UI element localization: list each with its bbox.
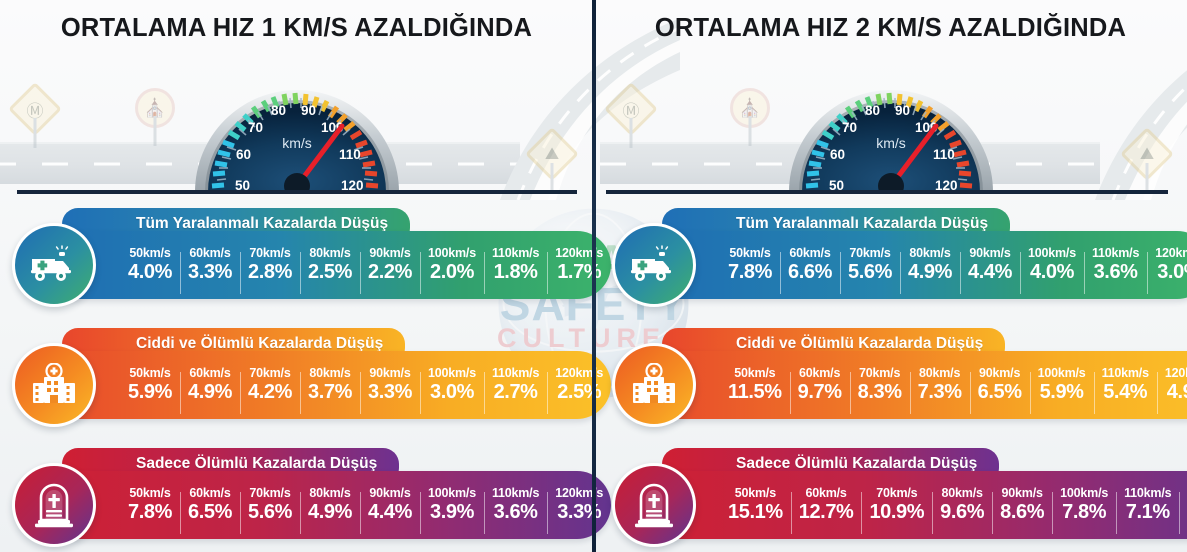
cell-speed: 70km/s	[248, 246, 292, 260]
cell-pct: 4.4%	[368, 500, 412, 524]
data-cell: 110km/s 3.6%	[484, 486, 547, 524]
cell-speed: 100km/s	[428, 246, 476, 260]
cell-pct: 7.8%	[1060, 500, 1108, 524]
cell-speed: 50km/s	[128, 246, 172, 260]
data-cell: 70km/s 5.6%	[240, 486, 300, 524]
cell-speed: 90km/s	[1000, 486, 1044, 500]
svg-text:90: 90	[895, 103, 910, 118]
panel-2-km-decrease: ORTALAMA HIZ 2 KM/S AZALDIĞINDA	[594, 0, 1187, 552]
cell-pct: 4.9%	[1165, 380, 1187, 404]
cell-pct: 9.6%	[940, 500, 984, 524]
page-title-right: ORTALAMA HIZ 2 KM/S AZALDIĞINDA	[594, 14, 1187, 43]
data-cell: 50km/s 11.5%	[720, 366, 790, 404]
cell-speed: 80km/s	[918, 366, 962, 380]
cell-pct: 2.0%	[428, 260, 476, 284]
cell-pct: 2.2%	[368, 260, 412, 284]
cell-speed: 110km/s	[1092, 246, 1139, 260]
gauge-tick-110: 110	[339, 147, 361, 162]
cell-pct: 15.1%	[728, 500, 783, 524]
cell-pct: 2.8%	[248, 260, 292, 284]
data-cell: 50km/s 4.0%	[120, 246, 180, 284]
data-cell: 60km/s 4.9%	[180, 366, 240, 404]
cell-pct: 3.6%	[492, 500, 539, 524]
gauge-unit-label: km/s	[282, 135, 312, 151]
cell-pct: 4.9%	[908, 260, 952, 284]
cell-speed: 70km/s	[248, 486, 292, 500]
data-cell: 100km/s 7.8%	[1052, 486, 1116, 524]
row-serious-fatal-right: Ciddi ve Ölümlü Kazalarda Düşüş 50km/s 1…	[594, 325, 1187, 445]
data-cell: 80km/s 7.3%	[910, 366, 970, 404]
cell-pct: 5.6%	[848, 260, 892, 284]
row-all-injury-right: Tüm Yaralanmalı Kazalarda Düşüş 50km/s 7…	[594, 205, 1187, 325]
cell-pct: 11.5%	[728, 380, 782, 404]
cell-speed: 80km/s	[908, 246, 952, 260]
data-cell: 70km/s 4.2%	[240, 366, 300, 404]
svg-text:70: 70	[842, 120, 857, 135]
data-cell: 50km/s 7.8%	[720, 246, 780, 284]
tombstone-icon	[12, 463, 96, 547]
data-cell: 80km/s 3.7%	[300, 366, 360, 404]
data-cell: 110km/s 3.6%	[1084, 246, 1147, 284]
cell-pct: 4.0%	[128, 260, 172, 284]
cell-pct: 6.6%	[788, 260, 832, 284]
cell-pct: 5.6%	[248, 500, 292, 524]
speedometer-gauge-left: 50 60 70 80 90 100 110 120 km/s	[193, 66, 401, 192]
cell-speed: 90km/s	[368, 246, 412, 260]
speedometer-gauge-right: 50 60 70 80 90 100 110 120 km/s	[787, 66, 995, 192]
cell-speed: 110km/s	[492, 486, 539, 500]
cell-pct: 4.9%	[188, 380, 232, 404]
header-rule-right	[606, 190, 1168, 194]
data-cell: 70km/s 8.3%	[850, 366, 910, 404]
data-cell: 80km/s 2.5%	[300, 246, 360, 284]
cell-pct: 6.5%	[188, 500, 232, 524]
cell-speed: 110km/s	[1124, 486, 1171, 500]
data-cell: 100km/s 3.0%	[420, 366, 484, 404]
cell-speed: 50km/s	[128, 366, 172, 380]
data-cell: 100km/s 5.9%	[1030, 366, 1094, 404]
cell-speed: 90km/s	[978, 366, 1022, 380]
cell-speed: 70km/s	[848, 246, 892, 260]
cell-speed: 120km/s	[1165, 366, 1187, 380]
data-cell: 120km/s 6.5%	[1179, 486, 1187, 524]
svg-text:110: 110	[933, 147, 955, 162]
cell-speed: 80km/s	[308, 366, 352, 380]
row-data-band: 50km/s 4.0% 60km/s 3.3% 70km/s 2.8% 80km…	[42, 231, 611, 299]
data-cell: 90km/s 3.3%	[360, 366, 420, 404]
infographic-root: Ⓜ ⛪ ⛰ Ⓜ ⛪	[0, 0, 1187, 552]
cell-speed: 50km/s	[728, 366, 782, 380]
ambulance-icon	[12, 223, 96, 307]
cell-pct: 10.9%	[869, 500, 924, 524]
cell-pct: 3.7%	[308, 380, 352, 404]
data-cell: 90km/s 4.4%	[960, 246, 1020, 284]
gauge-tick-70: 70	[248, 120, 263, 135]
row-data-band: 50km/s 11.5% 60km/s 9.7% 70km/s 8.3% 80k…	[642, 351, 1187, 419]
tombstone-icon	[612, 463, 696, 547]
cell-pct: 3.0%	[428, 380, 476, 404]
cell-pct: 6.5%	[978, 380, 1022, 404]
data-cell: 50km/s 5.9%	[120, 366, 180, 404]
gauge-tick-60: 60	[236, 147, 251, 162]
rows-right: Tüm Yaralanmalı Kazalarda Düşüş 50km/s 7…	[594, 205, 1187, 552]
data-cell: 120km/s 4.9%	[1157, 366, 1187, 404]
cell-pct: 7.8%	[128, 500, 172, 524]
cell-speed: 110km/s	[492, 366, 539, 380]
data-cell: 90km/s 8.6%	[992, 486, 1052, 524]
cell-pct: 8.3%	[858, 380, 902, 404]
cell-pct: 3.9%	[428, 500, 476, 524]
data-cell: 60km/s 9.7%	[790, 366, 850, 404]
data-cell: 90km/s 6.5%	[970, 366, 1030, 404]
cell-speed: 50km/s	[128, 486, 172, 500]
data-cell: 80km/s 4.9%	[300, 486, 360, 524]
cell-speed: 110km/s	[1102, 366, 1149, 380]
data-cell: 70km/s 10.9%	[861, 486, 932, 524]
data-cell: 60km/s 6.6%	[780, 246, 840, 284]
data-cell: 60km/s 3.3%	[180, 246, 240, 284]
cell-pct: 4.4%	[968, 260, 1012, 284]
page-title-left: ORTALAMA HIZ 1 KM/S AZALDIĞINDA	[0, 14, 593, 43]
data-cell: 60km/s 6.5%	[180, 486, 240, 524]
data-cell: 110km/s 2.7%	[484, 366, 547, 404]
data-cell: 50km/s 15.1%	[720, 486, 791, 524]
cell-pct: 2.7%	[492, 380, 539, 404]
cell-speed: 60km/s	[798, 366, 842, 380]
cell-pct: 4.0%	[1028, 260, 1076, 284]
rows-left: Tüm Yaralanmalı Kazalarda Düşüş 50km/s 4…	[0, 205, 593, 552]
cell-speed: 90km/s	[968, 246, 1012, 260]
row-data-band: 50km/s 15.1% 60km/s 12.7% 70km/s 10.9% 8…	[642, 471, 1187, 539]
cell-pct: 3.3%	[188, 260, 232, 284]
data-cell: 60km/s 12.7%	[791, 486, 862, 524]
cell-pct: 3.3%	[368, 380, 412, 404]
row-data-band: 50km/s 7.8% 60km/s 6.6% 70km/s 5.6% 80km…	[642, 231, 1187, 299]
cell-speed: 60km/s	[799, 486, 854, 500]
cell-speed: 90km/s	[368, 486, 412, 500]
row-all-injury-left: Tüm Yaralanmalı Kazalarda Düşüş 50km/s 4…	[0, 205, 593, 325]
cell-speed: 70km/s	[248, 366, 292, 380]
hospital-icon	[612, 343, 696, 427]
cell-pct: 5.4%	[1102, 380, 1149, 404]
cell-pct: 3.6%	[1092, 260, 1139, 284]
cell-pct: 4.2%	[248, 380, 292, 404]
cell-speed: 100km/s	[1038, 366, 1086, 380]
cell-speed: 80km/s	[308, 486, 352, 500]
cell-speed: 60km/s	[788, 246, 832, 260]
svg-text:km/s: km/s	[876, 135, 906, 151]
cell-speed: 110km/s	[492, 246, 539, 260]
cell-speed: 100km/s	[1060, 486, 1108, 500]
header-rule-left	[17, 190, 577, 194]
gauge-tick-90: 90	[301, 103, 316, 118]
cell-speed: 70km/s	[858, 366, 902, 380]
cell-speed: 120km/s	[1155, 246, 1187, 260]
data-cell: 120km/s 3.0%	[1147, 246, 1187, 284]
cell-pct: 8.6%	[1000, 500, 1044, 524]
panel-1-km-decrease: ORTALAMA HIZ 1 KM/S AZALDIĞINDA	[0, 0, 593, 552]
cell-pct: 7.8%	[728, 260, 772, 284]
cell-pct: 2.5%	[308, 260, 352, 284]
cell-pct: 1.8%	[492, 260, 539, 284]
row-data-band: 50km/s 5.9% 60km/s 4.9% 70km/s 4.2% 80km…	[42, 351, 611, 419]
ambulance-icon	[612, 223, 696, 307]
cell-pct: 5.9%	[1038, 380, 1086, 404]
cell-speed: 90km/s	[368, 366, 412, 380]
data-cell: 80km/s 9.6%	[932, 486, 992, 524]
cell-speed: 100km/s	[428, 366, 476, 380]
row-fatal-only-right: Sadece Ölümlü Kazalarda Düşüş 50km/s 15.…	[594, 445, 1187, 552]
data-cell: 100km/s 3.9%	[420, 486, 484, 524]
panel-divider	[592, 0, 596, 552]
data-cell: 110km/s 5.4%	[1094, 366, 1157, 404]
row-fatal-only-left: Sadece Ölümlü Kazalarda Düşüş 50km/s 7.8…	[0, 445, 593, 552]
gauge-tick-80: 80	[271, 103, 286, 118]
data-cell: 110km/s 7.1%	[1116, 486, 1179, 524]
row-serious-fatal-left: Ciddi ve Ölümlü Kazalarda Düşüş 50km/s 5…	[0, 325, 593, 445]
cell-pct: 12.7%	[799, 500, 854, 524]
cell-pct: 5.9%	[128, 380, 172, 404]
row-data-band: 50km/s 7.8% 60km/s 6.5% 70km/s 5.6% 80km…	[42, 471, 611, 539]
cell-pct: 7.3%	[918, 380, 962, 404]
svg-text:60: 60	[830, 147, 845, 162]
cell-speed: 60km/s	[188, 246, 232, 260]
data-cell: 80km/s 4.9%	[900, 246, 960, 284]
cell-speed: 80km/s	[308, 246, 352, 260]
cell-pct: 9.7%	[798, 380, 842, 404]
cell-speed: 100km/s	[428, 486, 476, 500]
data-cell: 90km/s 4.4%	[360, 486, 420, 524]
cell-speed: 100km/s	[1028, 246, 1076, 260]
data-cell: 100km/s 2.0%	[420, 246, 484, 284]
data-cell: 90km/s 2.2%	[360, 246, 420, 284]
cell-speed: 70km/s	[869, 486, 924, 500]
hospital-icon	[12, 343, 96, 427]
cell-pct: 4.9%	[308, 500, 352, 524]
cell-pct: 3.0%	[1155, 260, 1187, 284]
data-cell: 110km/s 1.8%	[484, 246, 547, 284]
cell-speed: 80km/s	[940, 486, 984, 500]
data-cell: 70km/s 5.6%	[840, 246, 900, 284]
cell-speed: 60km/s	[188, 486, 232, 500]
data-cell: 70km/s 2.8%	[240, 246, 300, 284]
cell-speed: 60km/s	[188, 366, 232, 380]
cell-speed: 50km/s	[728, 246, 772, 260]
cell-pct: 7.1%	[1124, 500, 1171, 524]
data-cell: 100km/s 4.0%	[1020, 246, 1084, 284]
svg-text:80: 80	[865, 103, 880, 118]
cell-speed: 50km/s	[728, 486, 783, 500]
data-cell: 50km/s 7.8%	[120, 486, 180, 524]
